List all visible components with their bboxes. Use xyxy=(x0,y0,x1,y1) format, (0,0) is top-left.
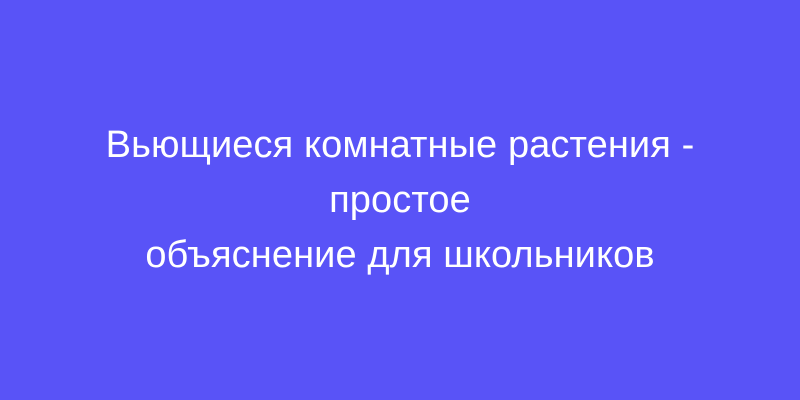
page-title: Вьющиеся комнатные растения - простое об… xyxy=(48,118,752,283)
title-block: Вьющиеся комнатные растения - простое об… xyxy=(48,118,752,283)
title-card: Вьющиеся комнатные растения - простое об… xyxy=(0,0,800,400)
